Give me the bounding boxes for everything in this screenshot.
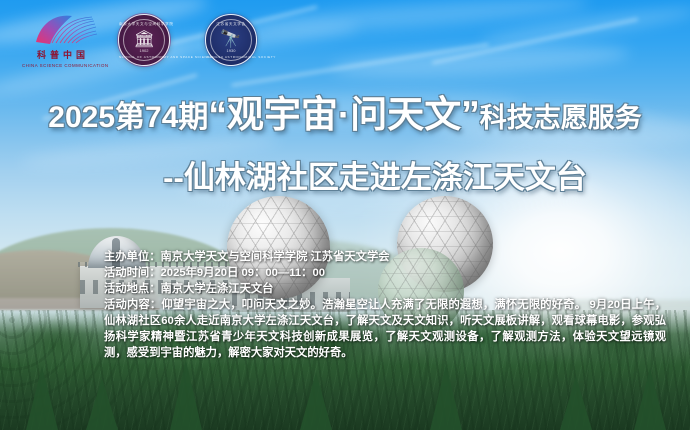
time-value: 2025年9月20日 09：00—11：00 xyxy=(161,267,326,279)
conifer-tree xyxy=(26,366,58,430)
classical-building-icon: 🏛 xyxy=(133,31,155,48)
conifer-tree xyxy=(634,368,666,430)
title-quote-open: “ xyxy=(208,94,227,135)
kepu-china-en-text: CHINA SCIENCE COMMUNICATION xyxy=(22,64,104,68)
place-value: 南京大学左涤江天文台 xyxy=(161,283,274,295)
jiangsu-astronomical-society-seal: 江苏省天文学会 🔭 1930 JIANGSU ASTRONOMICAL SOCI… xyxy=(205,14,257,66)
organizer-value: 南京大学天文与空间科学学院 江苏省天文学会 xyxy=(161,251,390,263)
time-label: 活动时间： xyxy=(104,267,161,279)
gradient-wave-icon xyxy=(32,12,98,46)
poster-canvas: 科普中国 CHINA SCIENCE COMMUNICATION 南京大学天文与… xyxy=(0,0,690,430)
kepu-china-logo: 科普中国 CHINA SCIENCE COMMUNICATION xyxy=(22,12,104,68)
logo-row: 科普中国 CHINA SCIENCE COMMUNICATION 南京大学天文与… xyxy=(0,0,690,78)
content-paragraph: 活动内容：仰望宇宙之大，叩问天文之妙。浩瀚星空让人充满了无限的遐想，满怀无限的好… xyxy=(104,297,666,361)
conifer-tree xyxy=(300,372,332,430)
title-theme: 观宇宙·问天文 xyxy=(227,94,461,135)
seal-year-text: 1902 xyxy=(119,48,169,53)
seal-arc-bottom-text: JIANGSU ASTRONOMICAL SOCIETY xyxy=(206,55,256,59)
seal-year-text: 1930 xyxy=(206,48,256,53)
conifer-tree xyxy=(430,364,462,430)
poster-subtitle: --仙林湖社区走进左涤江天文台 xyxy=(0,152,690,197)
kepu-china-cn-text: 科普中国 xyxy=(22,51,104,60)
poster-title: 2025第74期“观宇宙·问天文”科技志愿服务 xyxy=(0,95,690,136)
conifer-tree xyxy=(170,360,202,430)
seal-arc-top-text: 江苏省天文学会 xyxy=(206,22,256,27)
title-tail: 科技志愿服务 xyxy=(480,103,642,133)
content-value: 仰望宇宙之大，叩问天文之妙。浩瀚星空让人充满了无限的遐想，满怀无限的好奇。 9月… xyxy=(104,299,666,359)
title-quote-close: ” xyxy=(461,94,480,135)
conifer-tree xyxy=(86,378,118,430)
seal-arc-top-text: 南京大学天文与空间科学学院 xyxy=(119,22,169,27)
nju-astronomy-seal: 南京大学天文与空间科学学院 🏛 1902 SCHOOL OF ASTRONOMY… xyxy=(118,14,170,66)
conifer-tree xyxy=(560,376,592,430)
organizer-label: 主办单位： xyxy=(104,251,161,263)
telescope-icon: 🔭 xyxy=(220,31,241,48)
time-line: 活动时间：2025年9月20日 09：00—11：00 xyxy=(104,265,666,281)
organizer-line: 主办单位：南京大学天文与空间科学学院 江苏省天文学会 xyxy=(104,249,666,265)
seal-arc-bottom-text: SCHOOL OF ASTRONOMY AND SPACE SCIENCE xyxy=(119,55,169,59)
place-label: 活动地点： xyxy=(104,283,161,295)
place-line: 活动地点：南京大学左涤江天文台 xyxy=(104,281,666,297)
content-label: 活动内容： xyxy=(104,299,161,311)
event-info-block: 主办单位：南京大学天文与空间科学学院 江苏省天文学会 活动时间：2025年9月2… xyxy=(104,249,666,361)
title-year-issue: 2025第74期 xyxy=(48,101,208,134)
